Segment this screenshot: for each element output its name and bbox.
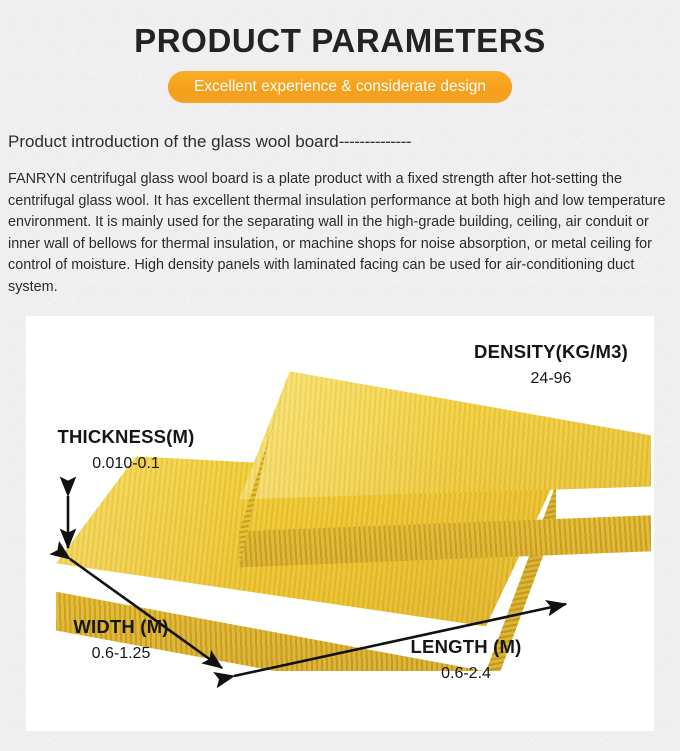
thickness-label: THICKNESS(M) [26, 426, 226, 448]
glass-wool-board-upper [231, 371, 651, 571]
intro-body-text: FANRYN centrifugal glass wool board is a… [8, 169, 672, 298]
intro-heading-dashes: -------------- [339, 132, 411, 151]
product-image-panel: DENSITY(KG/M3) 24-96 THICKNESS(M) 0.010-… [26, 316, 654, 731]
dimension-label-length: LENGTH (M) 0.6-2.4 [356, 636, 576, 682]
dimension-label-width: WIDTH (M) 0.6-1.25 [26, 616, 216, 662]
width-label: WIDTH (M) [26, 616, 216, 638]
subtitle-badge-row: Excellent experience & considerate desig… [0, 71, 680, 103]
dimension-label-thickness: THICKNESS(M) 0.010-0.1 [26, 426, 226, 472]
density-value: 24-96 [441, 369, 661, 388]
thickness-value: 0.010-0.1 [26, 454, 226, 473]
density-label: DENSITY(KG/M3) [441, 341, 661, 363]
length-label: LENGTH (M) [356, 636, 576, 658]
product-parameters-page: PRODUCT PARAMETERS Excellent experience … [0, 0, 680, 731]
dimension-label-density: DENSITY(KG/M3) 24-96 [441, 341, 661, 387]
subtitle-badge: Excellent experience & considerate desig… [168, 71, 512, 103]
intro-section-heading: Product introduction of the glass wool b… [8, 132, 680, 152]
upper-board-top-face [231, 371, 651, 531]
width-value: 0.6-1.25 [26, 644, 216, 663]
product-photo: DENSITY(KG/M3) 24-96 THICKNESS(M) 0.010-… [26, 316, 654, 731]
page-title: PRODUCT PARAMETERS [0, 0, 680, 60]
intro-heading-text: Product introduction of the glass wool b… [8, 132, 339, 151]
length-value: 0.6-2.4 [356, 664, 576, 683]
